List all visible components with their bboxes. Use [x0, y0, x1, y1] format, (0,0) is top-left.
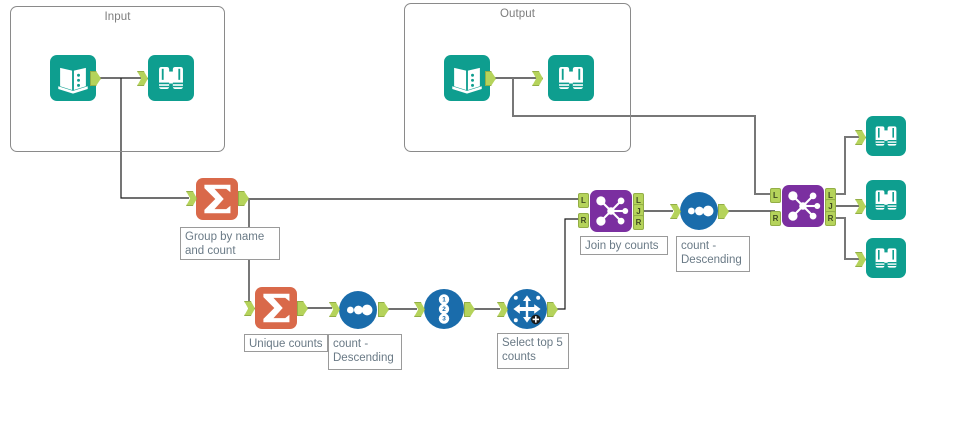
- anchor-in[interactable]: [855, 252, 866, 267]
- binoculars-icon: [866, 180, 906, 220]
- output-browse-tool-body: [548, 55, 594, 101]
- summarize-tool-group[interactable]: [196, 178, 238, 220]
- input-data-tool[interactable]: [50, 55, 96, 101]
- browse-tool-top[interactable]: [866, 116, 906, 156]
- browse-tool-top-body: [866, 116, 906, 156]
- anchor-out[interactable]: [297, 301, 308, 316]
- sigma-icon: [196, 178, 238, 220]
- summarize-tool-group-body: [196, 178, 238, 220]
- anchor-out[interactable]: [238, 191, 249, 206]
- sort-dots-icon: [680, 192, 718, 230]
- binoculars-icon: [866, 116, 906, 156]
- browse-tool-bottom-body: [866, 238, 906, 278]
- anchor-l[interactable]: L: [578, 193, 589, 208]
- input-browse-tool[interactable]: [148, 55, 194, 101]
- note-join-counts[interactable]: Join by counts: [580, 236, 668, 255]
- anchor-r[interactable]: R: [633, 215, 644, 230]
- browse-tool-middle[interactable]: [866, 180, 906, 220]
- book-icon: [444, 55, 490, 101]
- summarize-tool-unique[interactable]: [255, 287, 297, 329]
- note-sort-unique[interactable]: count - Descending: [328, 334, 402, 370]
- join-icon: [782, 185, 824, 227]
- output-container-title: Output: [405, 8, 630, 20]
- browse-tool-middle-body: [866, 180, 906, 220]
- sort-tool-join-body: [680, 192, 718, 230]
- wire-final-L-to-browse1: [829, 137, 859, 194]
- svg-text:3: 3: [442, 316, 446, 323]
- anchor-out[interactable]: [464, 302, 475, 317]
- input-browse-tool-body: [148, 55, 194, 101]
- join-icon: [590, 190, 632, 232]
- numbers-123-icon: 123: [424, 289, 464, 329]
- note-sort-join[interactable]: count - Descending: [676, 236, 750, 272]
- svg-text:1: 1: [442, 296, 446, 303]
- summarize-tool-unique-body: [255, 287, 297, 329]
- anchor-in[interactable]: [855, 199, 866, 214]
- workflow-canvas[interactable]: InputOutput 123LRLJRLRLJR Group by name …: [0, 0, 968, 427]
- join-tool-counts-body: [590, 190, 632, 232]
- note-select-top5[interactable]: Select top 5 counts: [497, 333, 569, 369]
- move-plus-icon: [507, 289, 547, 329]
- binoculars-icon: [866, 238, 906, 278]
- join-tool-counts[interactable]: [590, 190, 632, 232]
- sort-tool-join[interactable]: [680, 192, 718, 230]
- record-id-tool[interactable]: 123: [424, 289, 464, 329]
- anchor-r[interactable]: R: [770, 211, 781, 226]
- output-data-tool[interactable]: [444, 55, 490, 101]
- sample-tool-top5[interactable]: [507, 289, 547, 329]
- wire-top5-to-join-r: [551, 219, 583, 309]
- browse-tool-bottom[interactable]: [866, 238, 906, 278]
- note-unique-counts[interactable]: Unique counts: [244, 334, 328, 352]
- anchor-out[interactable]: [547, 302, 558, 317]
- anchor-l[interactable]: L: [770, 188, 781, 203]
- book-icon: [50, 55, 96, 101]
- anchor-out[interactable]: [718, 204, 729, 219]
- join-tool-final[interactable]: [782, 185, 824, 227]
- record-id-tool-body: 123: [424, 289, 464, 329]
- sigma-icon: [255, 287, 297, 329]
- anchor-in[interactable]: [244, 301, 255, 316]
- sample-tool-top5-body: [507, 289, 547, 329]
- anchor-in[interactable]: [855, 130, 866, 145]
- output-browse-tool[interactable]: [548, 55, 594, 101]
- anchor-out[interactable]: [378, 302, 389, 317]
- join-tool-final-body: [782, 185, 824, 227]
- input-data-tool-body: [50, 55, 96, 101]
- binoculars-icon: [548, 55, 594, 101]
- note-group-by[interactable]: Group by name and count: [180, 227, 280, 260]
- anchor-r[interactable]: R: [578, 213, 589, 228]
- svg-text:2: 2: [442, 306, 446, 313]
- output-container[interactable]: Output: [404, 3, 631, 152]
- anchor-r[interactable]: R: [825, 211, 836, 226]
- sort-dots-icon: [339, 291, 377, 329]
- sort-tool-unique-body: [339, 291, 377, 329]
- binoculars-icon: [148, 55, 194, 101]
- input-container-title: Input: [11, 11, 224, 23]
- output-data-tool-body: [444, 55, 490, 101]
- sort-tool-unique[interactable]: [339, 291, 377, 329]
